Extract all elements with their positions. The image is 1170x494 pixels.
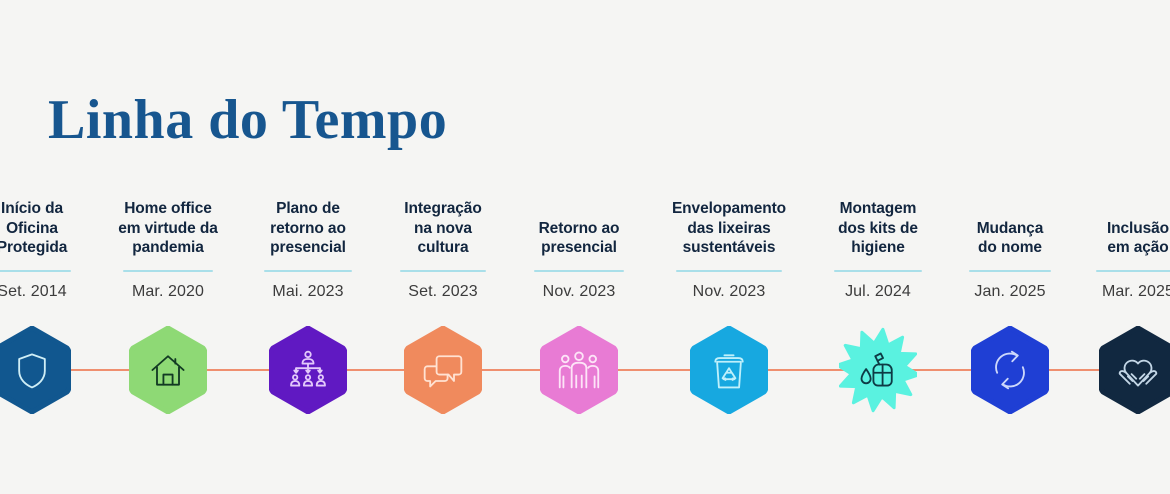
timeline-step-head: Mudança do nome <box>977 182 1043 258</box>
shield-icon <box>10 348 54 392</box>
timeline-step-divider <box>400 270 486 272</box>
timeline-step-date: Jul. 2024 <box>845 283 911 301</box>
timeline-step-divider <box>264 270 352 272</box>
timeline-step-date: Nov. 2023 <box>543 283 616 301</box>
org-chart-people-icon <box>286 348 330 392</box>
timeline-step-icon-row <box>958 322 1062 418</box>
timeline-infographic: Linha do Tempo Início da Oficina Protegi… <box>0 0 1170 494</box>
timeline-step-head: Plano de retorno ao presencial <box>270 182 346 258</box>
timeline-step-label: Home office em virtude da pandemia <box>118 199 217 258</box>
timeline-step-date: Jan. 2025 <box>974 283 1045 301</box>
three-people-icon <box>557 348 601 392</box>
timeline-step-badge[interactable] <box>269 326 347 414</box>
timeline-step[interactable]: Envelopamento das lixeiras sustentáveisN… <box>660 182 798 418</box>
timeline-step-divider <box>0 270 71 272</box>
timeline-step-head: Integração na nova cultura <box>404 182 481 258</box>
timeline-step-date: Nov. 2023 <box>693 283 766 301</box>
timeline-step-head: Envelopamento das lixeiras sustentáveis <box>672 182 786 258</box>
heart-hands-icon <box>1116 348 1160 392</box>
recycle-bin-icon <box>707 348 751 392</box>
timeline-step-label: Inclusão em ação <box>1107 219 1169 258</box>
timeline-step-divider <box>1096 270 1170 272</box>
timeline-step-badge[interactable] <box>1099 326 1170 414</box>
page-title: Linha do Tempo <box>48 92 447 148</box>
timeline-step-badge[interactable] <box>404 326 482 414</box>
timeline-step[interactable]: Montagem dos kits de higieneJul. 2024 <box>822 182 934 418</box>
timeline-step-label: Integração na nova cultura <box>404 199 481 258</box>
timeline-connector-line <box>762 369 824 371</box>
timeline-step-divider <box>534 270 624 272</box>
timeline-step-label: Mudança do nome <box>977 219 1043 258</box>
timeline-step-head: Montagem dos kits de higiene <box>838 182 918 258</box>
timeline-step-label: Envelopamento das lixeiras sustentáveis <box>672 199 786 258</box>
timeline-step[interactable]: Integração na nova culturaSet. 2023 <box>388 182 498 418</box>
timeline-step-divider <box>676 270 782 272</box>
timeline-step[interactable]: Início da Oficina ProtegidaSet. 2014 <box>0 182 84 418</box>
timeline-step[interactable]: Home office em virtude da pandemiaMar. 2… <box>108 182 228 418</box>
hand-sanitizer-icon <box>856 348 900 392</box>
timeline-step[interactable]: Retorno ao presencialNov. 2023 <box>522 182 636 418</box>
timeline-step-badge[interactable] <box>129 326 207 414</box>
timeline-step-date: Set. 2023 <box>408 283 477 301</box>
timeline-step-date: Mai. 2023 <box>272 283 343 301</box>
timeline-step-head: Início da Oficina Protegida <box>0 182 67 258</box>
timeline-step-date: Mar. 2020 <box>132 283 204 301</box>
house-icon <box>146 348 190 392</box>
speech-bubbles-icon <box>421 348 465 392</box>
timeline-step-label: Plano de retorno ao presencial <box>270 199 346 258</box>
timeline-step-icon-row <box>1086 322 1170 418</box>
timeline-step-label: Montagem dos kits de higiene <box>838 199 918 258</box>
timeline-step-date: Mar. 2025 <box>1102 283 1170 301</box>
timeline-step-divider <box>123 270 213 272</box>
timeline-step-head: Inclusão em ação <box>1107 182 1169 258</box>
timeline-step[interactable]: Plano de retorno ao presencialMai. 2023 <box>252 182 364 418</box>
timeline-step-icon-row <box>388 322 498 418</box>
timeline-step-divider <box>834 270 922 272</box>
timeline-step[interactable]: Mudança do nomeJan. 2025 <box>958 182 1062 418</box>
refresh-arrows-icon <box>988 348 1032 392</box>
timeline-step-label: Início da Oficina Protegida <box>0 199 67 258</box>
timeline-step-head: Home office em virtude da pandemia <box>118 182 217 258</box>
timeline-step-date: Set. 2014 <box>0 283 67 301</box>
timeline-step-divider <box>969 270 1051 272</box>
timeline-step-label: Retorno ao presencial <box>539 219 620 258</box>
timeline-step-badge[interactable] <box>839 326 917 414</box>
timeline-step-badge[interactable] <box>971 326 1049 414</box>
timeline-step[interactable]: Inclusão em açãoMar. 2025 <box>1086 182 1170 418</box>
timeline-track: Início da Oficina ProtegidaSet. 2014Home… <box>0 182 1170 412</box>
timeline-step-head: Retorno ao presencial <box>539 182 620 258</box>
timeline-step-badge[interactable] <box>690 326 768 414</box>
timeline-step-badge[interactable] <box>540 326 618 414</box>
timeline-step-badge[interactable] <box>0 326 71 414</box>
